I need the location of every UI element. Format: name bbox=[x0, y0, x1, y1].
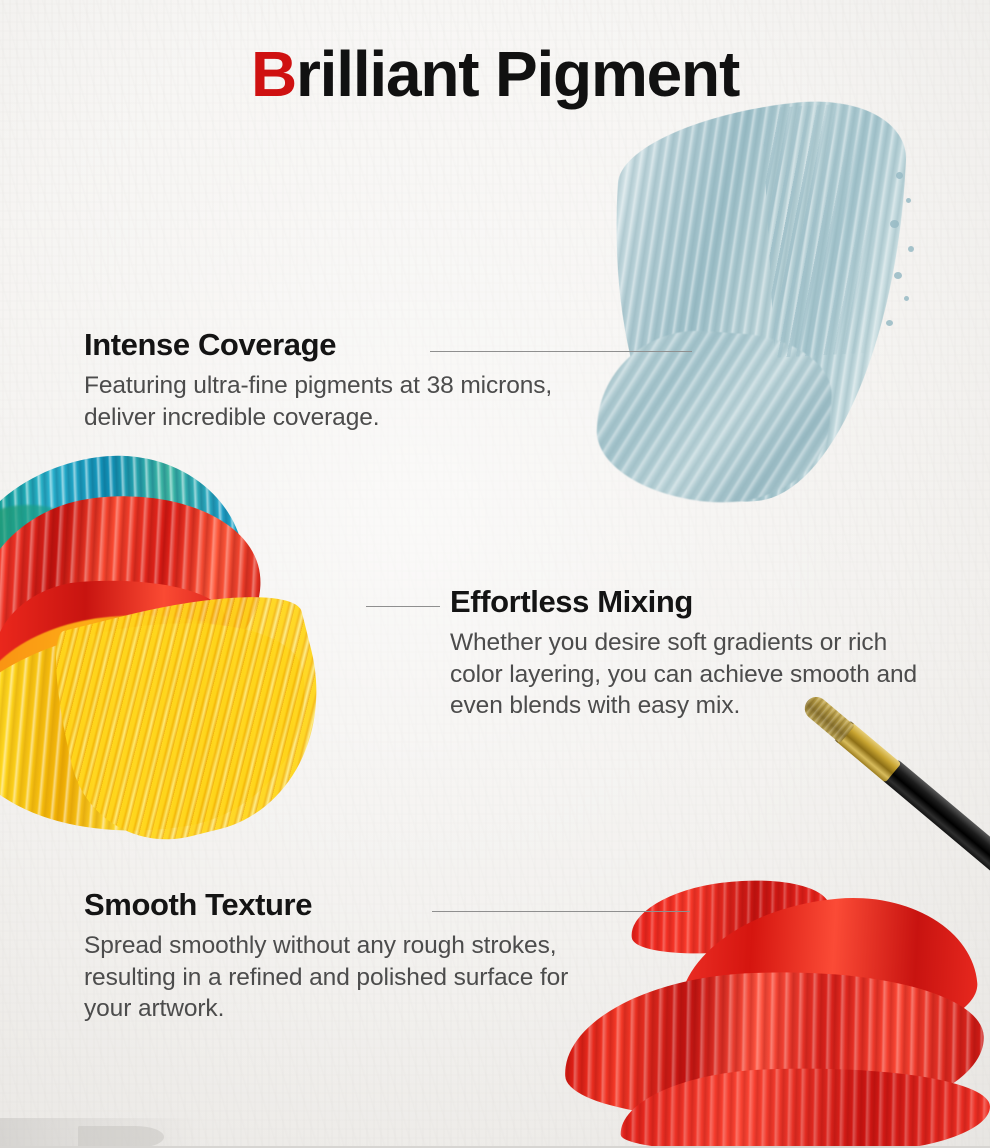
feature-smooth-texture: Smooth Texture Spread smoothly without a… bbox=[84, 888, 604, 1025]
page-title: Brilliant Pigment bbox=[0, 42, 990, 106]
leader-line-effortless-mixing bbox=[366, 606, 440, 607]
feature-body: Featuring ultra-fine pigments at 38 micr… bbox=[84, 370, 604, 434]
title-rest: rilliant Pigment bbox=[296, 38, 739, 110]
feature-intense-coverage: Intense Coverage Featuring ultra-fine pi… bbox=[84, 328, 604, 433]
poster-canvas: Brilliant Pigment Intense Coverage Featu… bbox=[0, 0, 990, 1148]
feature-heading: Smooth Texture bbox=[84, 888, 604, 923]
feature-body: Whether you desire soft gradients or ric… bbox=[450, 627, 920, 723]
feature-effortless-mixing: Effortless Mixing Whether you desire sof… bbox=[450, 585, 920, 722]
feature-heading: Intense Coverage bbox=[84, 328, 604, 363]
title-initial: B bbox=[251, 38, 296, 110]
feature-heading: Effortless Mixing bbox=[450, 585, 920, 620]
feature-body: Spread smoothly without any rough stroke… bbox=[84, 930, 604, 1026]
